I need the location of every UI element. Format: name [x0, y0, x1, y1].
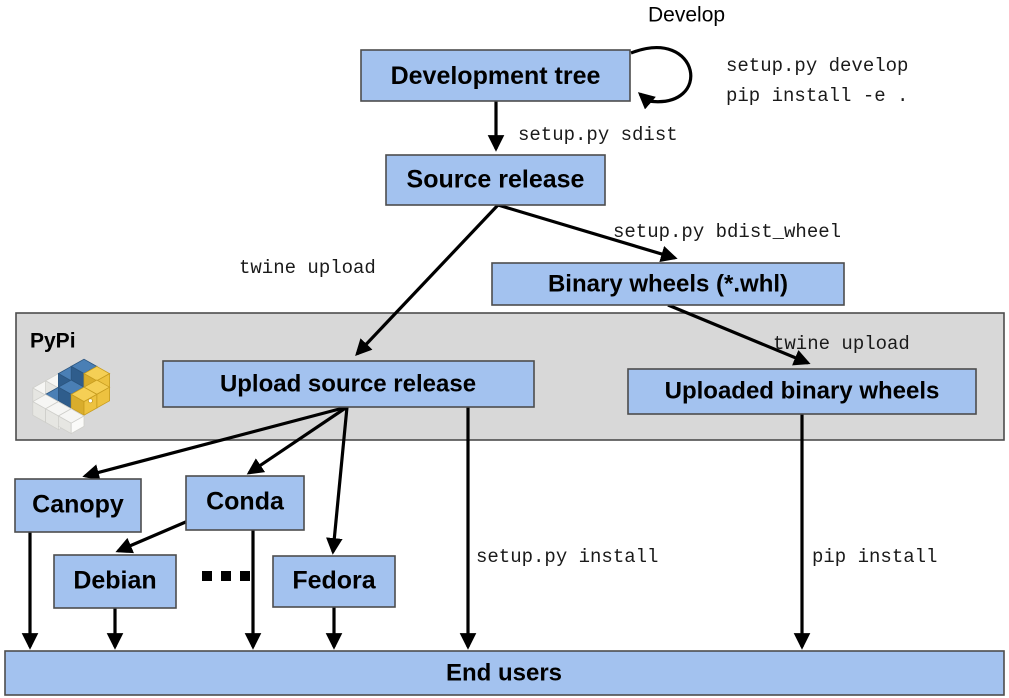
node-conda[interactable]: Conda: [186, 476, 304, 530]
edge-develop-selfloop: [631, 48, 691, 102]
node-source-release-label: Source release: [407, 166, 585, 194]
group-pypi-label: PyPi: [30, 330, 76, 353]
node-debian-label: Debian: [73, 567, 156, 595]
edge-label-develop: Develop: [648, 4, 725, 27]
node-upload-source-release-label: Upload source release: [220, 370, 476, 397]
more-distros-ellipsis: [202, 571, 250, 581]
edge-label-twine-upload-source: twine upload: [239, 257, 376, 279]
node-upload-source-release[interactable]: Upload source release: [163, 361, 534, 407]
node-development-tree[interactable]: Development tree: [361, 50, 630, 101]
node-end-users-label: End users: [446, 659, 562, 686]
edge-label-twine-upload-wheels: twine upload: [773, 333, 910, 355]
node-source-release[interactable]: Source release: [386, 155, 605, 205]
node-binary-wheels-label: Binary wheels (*.whl): [548, 270, 788, 297]
node-uploaded-binary-wheels-label: Uploaded binary wheels: [665, 377, 940, 404]
node-fedora[interactable]: Fedora: [273, 556, 395, 607]
diagram-canvas: PyPi: [0, 0, 1009, 698]
edge-label-setup-py-sdist: setup.py sdist: [518, 124, 678, 146]
edge-label-pip-install-e: pip install -e .: [726, 85, 908, 107]
edge-label-pip-install: pip install: [812, 546, 937, 568]
edge-label-setup-py-develop: setup.py develop: [726, 55, 908, 77]
node-binary-wheels[interactable]: Binary wheels (*.whl): [492, 263, 844, 305]
node-fedora-label: Fedora: [292, 567, 376, 595]
node-conda-label: Conda: [206, 488, 285, 516]
node-end-users[interactable]: End users: [5, 651, 1004, 695]
diagram-svg: PyPi: [0, 0, 1009, 698]
node-uploaded-binary-wheels[interactable]: Uploaded binary wheels: [628, 369, 976, 414]
edge-label-setup-py-bdist-wheel: setup.py bdist_wheel: [613, 221, 841, 243]
node-canopy-label: Canopy: [32, 491, 124, 519]
node-debian[interactable]: Debian: [54, 555, 176, 608]
node-development-tree-label: Development tree: [391, 62, 601, 90]
node-canopy[interactable]: Canopy: [15, 479, 141, 532]
edge-label-setup-py-install: setup.py install: [476, 546, 658, 568]
